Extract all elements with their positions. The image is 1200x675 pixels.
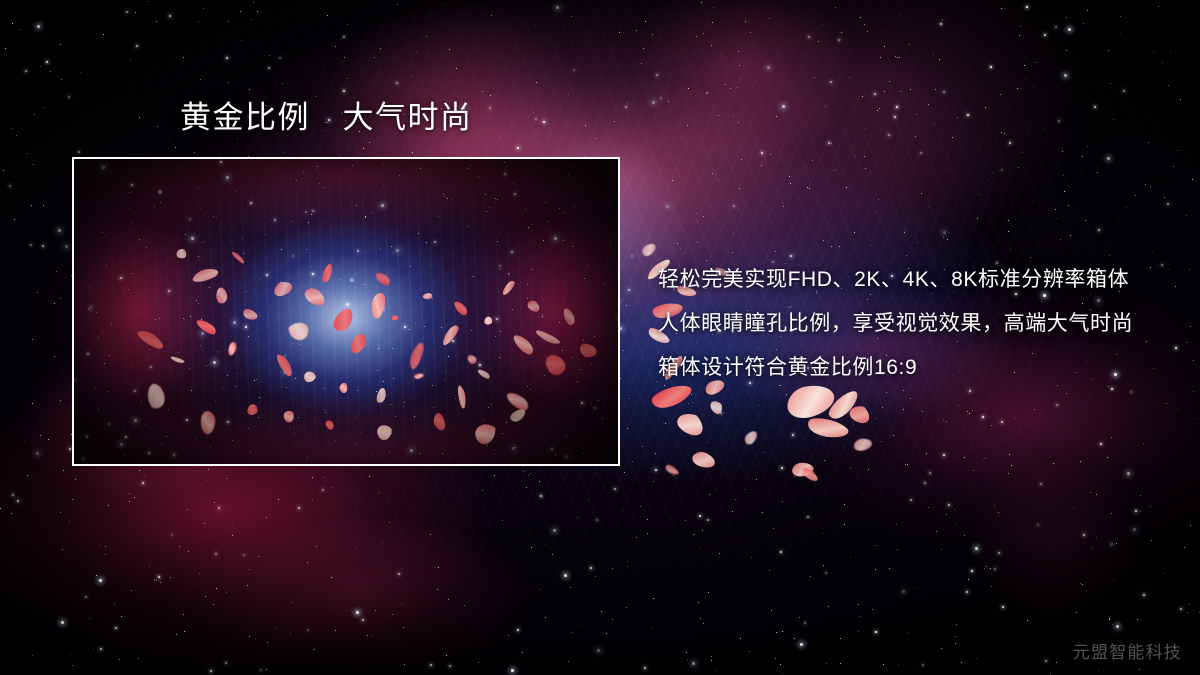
description-line-3: 箱体设计符合黄金比例16:9 [658, 346, 1178, 390]
presentation-slide: 黄金比例 大气时尚 轻松完美实现FHD、2K、4K、8K标准分辨率箱体 人体眼睛… [0, 0, 1200, 675]
framed-image-vignette [74, 159, 618, 464]
description-line-1: 轻松完美实现FHD、2K、4K、8K标准分辨率箱体 [658, 258, 1178, 302]
company-watermark: 元盟智能科技 [1073, 638, 1182, 663]
framed-galaxy-image [72, 157, 620, 466]
description-block: 轻松完美实现FHD、2K、4K、8K标准分辨率箱体 人体眼睛瞳孔比例，享受视觉效… [658, 258, 1178, 390]
page-title: 黄金比例 大气时尚 [180, 101, 473, 135]
description-line-2: 人体眼睛瞳孔比例，享受视觉效果，高端大气时尚 [658, 302, 1178, 346]
